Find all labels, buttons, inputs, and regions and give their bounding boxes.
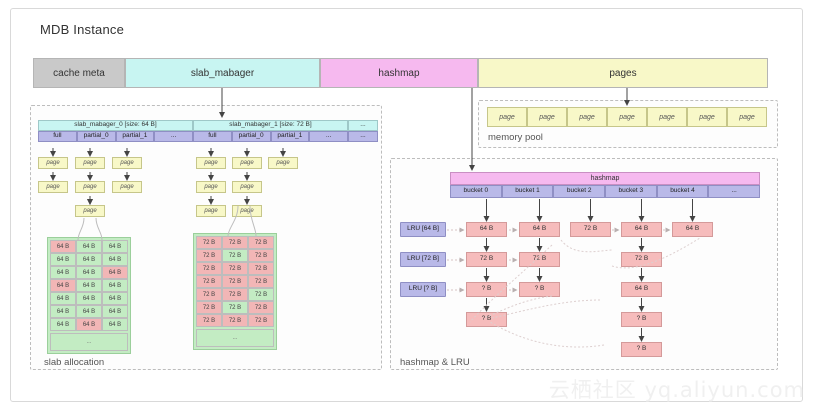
slab-cell[interactable]: 72 B [222,301,248,314]
slab-manager-subcell[interactable]: ... [154,131,193,142]
slab-cell[interactable]: 72 B [196,314,222,327]
memory-pool-page[interactable]: page [647,107,687,127]
page-title: MDB Instance [40,22,124,37]
slab-manager-subcell[interactable]: partial_0 [232,131,271,142]
slab-manager-subcell[interactable]: partial_0 [77,131,116,142]
slab-cell[interactable]: 72 B [222,314,248,327]
slab-cell[interactable]: 72 B [196,262,222,275]
slab-cell[interactable]: 72 B [248,249,274,262]
diagram-canvas: MDB Instance cache meta slab_mabager has… [0,0,813,410]
slab-cell[interactable]: 64 B [50,253,76,266]
memory-pool-page[interactable]: page [607,107,647,127]
slab-cell[interactable]: 72 B [248,301,274,314]
slab-cell[interactable]: 64 B [102,253,128,266]
slab-manager-subcell[interactable]: full [38,131,77,142]
slab-cell[interactable]: 72 B [222,236,248,249]
page-box[interactable]: page [75,181,105,193]
slab-manager-subcell[interactable]: full [193,131,232,142]
lru-node[interactable]: 64 B [519,222,560,237]
lru-node[interactable]: 72 B [519,252,560,267]
hashmap-title-bar: hashmap [450,172,760,185]
slab-manager-subcell[interactable]: partial_1 [271,131,310,142]
slab-cell[interactable]: 64 B [50,292,76,305]
slab-cell[interactable]: 72 B [222,262,248,275]
slab-cell[interactable]: 64 B [76,240,102,253]
page-box[interactable]: page [38,181,68,193]
lru-node[interactable]: 72 B [621,252,662,267]
slab-cell[interactable]: 64 B [102,279,128,292]
lru-node[interactable]: ? B [466,312,507,327]
slab-cell[interactable]: 72 B [222,249,248,262]
slab-cell[interactable]: 64 B [102,292,128,305]
slab-cell[interactable]: 64 B [50,266,76,279]
memory-pool-page[interactable]: page [687,107,727,127]
slab-cell[interactable]: 64 B [102,305,128,318]
slab-cell[interactable]: 72 B [196,301,222,314]
slab-cell[interactable]: 64 B [102,240,128,253]
memory-pool-page[interactable]: page [527,107,567,127]
slab-grid-footer: ... [50,333,128,351]
memory-pool-label: memory pool [488,132,543,143]
slab-cell[interactable]: 64 B [50,305,76,318]
slab-manager-subcell[interactable]: ... [309,131,348,142]
slab-cell[interactable]: 72 B [222,288,248,301]
lru-node[interactable]: ? B [621,342,662,357]
slab-cell[interactable]: 64 B [50,318,76,331]
slab-cell[interactable]: 64 B [50,279,76,292]
slab-cell[interactable]: 72 B [196,288,222,301]
lru-node[interactable]: 64 B [621,222,662,237]
page-box[interactable]: page [196,205,226,217]
instance-segment-slab-manager[interactable]: slab_mabager [125,58,320,88]
slab-cell[interactable]: 72 B [248,314,274,327]
page-box[interactable]: page [38,157,68,169]
page-box[interactable]: page [232,157,262,169]
watermark: 云栖社区 yq.aliyun.com [549,374,805,404]
page-box[interactable]: page [232,181,262,193]
slab-cell[interactable]: 72 B [196,275,222,288]
lru-node[interactable]: 64 B [672,222,713,237]
page-box[interactable]: page [232,205,262,217]
slab-manager-subcell[interactable]: ... [348,131,378,142]
lru-node[interactable]: 72 B [570,222,611,237]
hashmap-bucket[interactable]: bucket 2 [553,185,605,198]
slab-cell[interactable]: 64 B [76,318,102,331]
page-box[interactable]: page [112,181,142,193]
hashmap-bucket[interactable]: ... [708,185,760,198]
slab-manager-header: ... [348,120,378,131]
lru-label[interactable]: LRU [72 B] [400,252,446,267]
slab-cell[interactable]: 72 B [248,262,274,275]
slab-cell[interactable]: 72 B [222,275,248,288]
slab-cell[interactable]: 64 B [102,318,128,331]
page-box[interactable]: page [75,157,105,169]
memory-pool-page[interactable]: page [487,107,527,127]
slab-manager-subcell[interactable]: partial_1 [116,131,155,142]
page-box[interactable]: page [196,181,226,193]
slab-cell[interactable]: 64 B [76,266,102,279]
slab-cell[interactable]: 64 B [76,292,102,305]
page-box[interactable]: page [75,205,105,217]
lru-node[interactable]: 64 B [466,222,507,237]
slab-cell[interactable]: 72 B [196,249,222,262]
lru-node[interactable]: ? B [519,282,560,297]
lru-node[interactable]: ? B [621,312,662,327]
slab-cell[interactable]: 72 B [248,275,274,288]
hashmap-bucket[interactable]: bucket 4 [657,185,709,198]
lru-node[interactable]: 72 B [466,252,507,267]
page-box[interactable]: page [196,157,226,169]
lru-label[interactable]: LRU [? B] [400,282,446,297]
slab-cell[interactable]: 72 B [248,236,274,249]
slab-cell[interactable]: 64 B [102,266,128,279]
hashmap-bucket[interactable]: bucket 1 [502,185,554,198]
instance-segment-hashmap[interactable]: hashmap [320,58,478,88]
instance-segment-pages[interactable]: pages [478,58,768,88]
hashmap-lru-label: hashmap & LRU [400,357,470,368]
slab-cell[interactable]: 64 B [76,305,102,318]
slab-allocation-label: slab allocation [44,357,104,368]
memory-pool-page[interactable]: page [567,107,607,127]
slab-cell[interactable]: 72 B [248,288,274,301]
lru-node[interactable]: ? B [466,282,507,297]
lru-node[interactable]: 64 B [621,282,662,297]
slab-cell[interactable]: 64 B [50,240,76,253]
hashmap-bucket[interactable]: bucket 0 [450,185,502,198]
lru-label[interactable]: LRU [64 B] [400,222,446,237]
slab-manager-header: slab_mabager_1 [size: 72 B] [193,120,348,131]
instance-segment-cache-meta[interactable]: cache meta [33,58,125,88]
slab-cell[interactable]: 72 B [196,236,222,249]
page-box[interactable]: page [268,157,298,169]
memory-pool-page[interactable]: page [727,107,767,127]
slab-manager-header: slab_mabager_0 [size: 64 B] [38,120,193,131]
slab-cell[interactable]: 64 B [76,253,102,266]
slab-cell[interactable]: 64 B [76,279,102,292]
slab-grid-footer: ... [196,329,274,347]
page-box[interactable]: page [112,157,142,169]
hashmap-bucket[interactable]: bucket 3 [605,185,657,198]
